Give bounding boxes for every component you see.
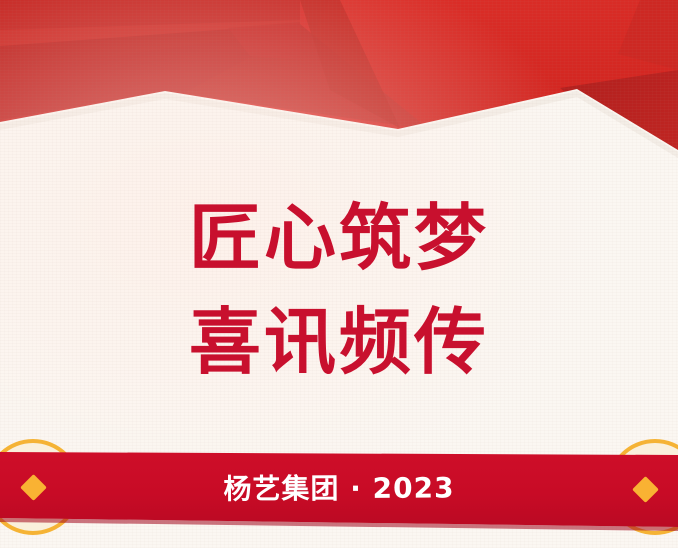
headline-line-2: 喜讯频传 [0,290,678,394]
top-decorative-artwork [0,0,678,190]
poster-canvas: 匠心筑梦 喜讯频传 [0,0,678,548]
headline-block: 匠心筑梦 喜讯频传 [0,186,678,394]
headline-line-1: 匠心筑梦 [0,186,678,290]
ribbon-caption: 杨艺集团 · 2023 [0,470,678,508]
